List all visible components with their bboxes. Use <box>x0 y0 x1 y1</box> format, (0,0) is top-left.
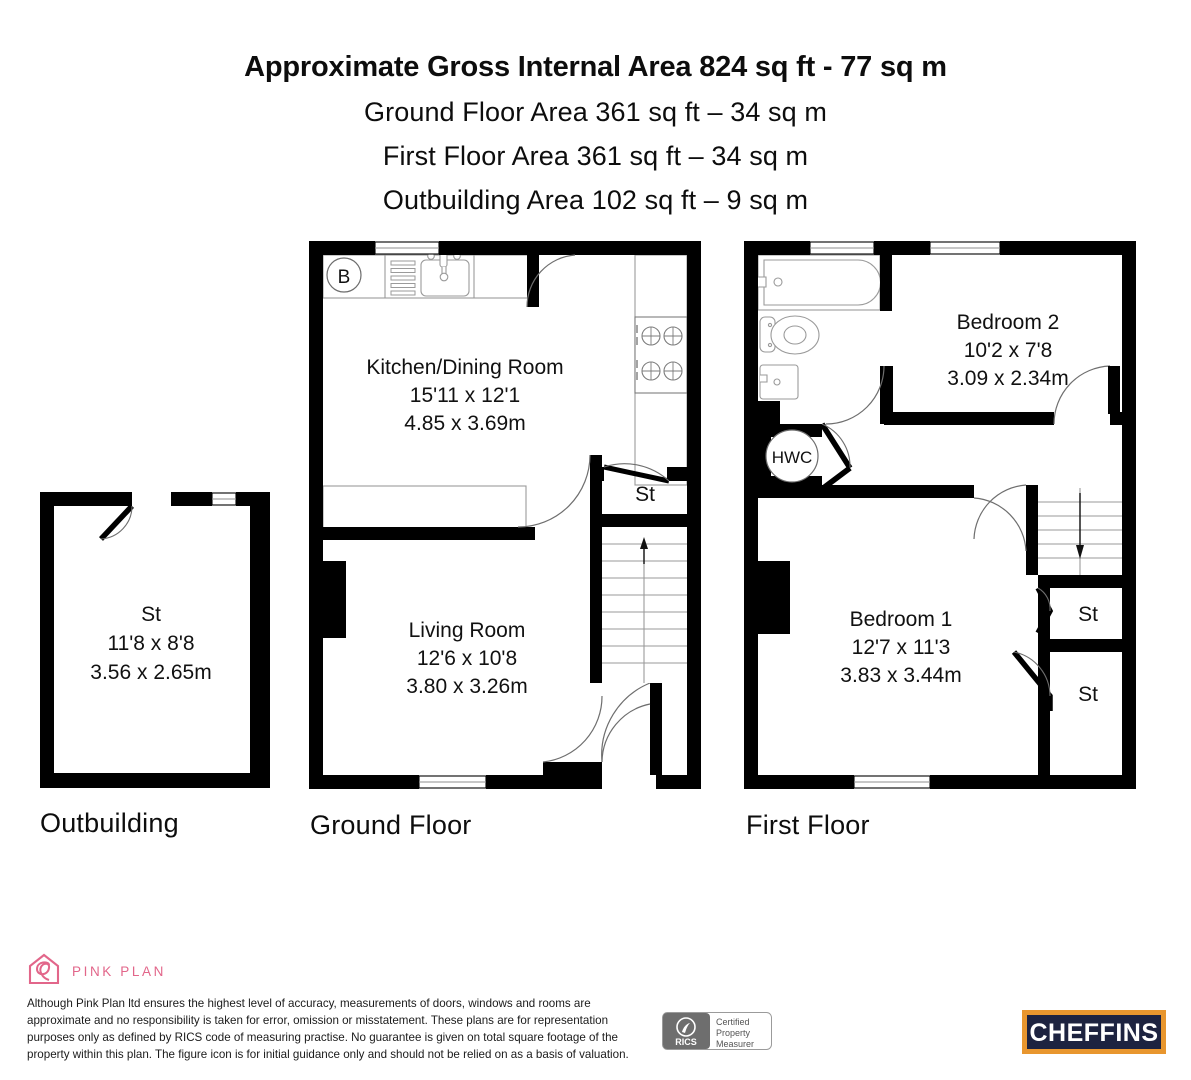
page-title: Approximate Gross Internal Area 824 sq f… <box>0 52 1191 82</box>
boiler-marker: B <box>327 258 361 292</box>
room-name-st: St <box>141 603 161 626</box>
room-name-kitchen: Kitchen/Dining Room <box>366 356 563 379</box>
outbuilding-room-label: St 11'8 x 8'8 3.56 x 2.65m <box>90 603 211 684</box>
hob-icon <box>635 317 687 393</box>
window-outbuilding-top <box>212 493 236 505</box>
room-imperial-living: 12'6 x 10'8 <box>417 647 517 670</box>
door-airing-cupboard <box>822 424 850 489</box>
rics-line2: Property <box>716 1028 751 1038</box>
hot-water-cylinder-marker: HWC <box>766 430 818 482</box>
room-metric-bedroom1: 3.83 x 3.44m <box>840 664 961 687</box>
door-outbuilding-entry <box>101 506 132 539</box>
rics-line1: Certified <box>716 1017 750 1027</box>
agent-logo: CHEFFINS <box>1022 1010 1166 1059</box>
agent-name: CHEFFINS <box>1030 1019 1159 1047</box>
staircase-first <box>1038 488 1122 575</box>
first-floor-label: First Floor <box>746 810 870 841</box>
room-imperial-bedroom2: 10'2 x 7'8 <box>964 339 1053 362</box>
base-units-lower <box>323 486 526 530</box>
outbuilding-area-line: Outbuilding Area 102 sq ft – 9 sq m <box>0 179 1191 223</box>
ground-floor-label: Ground Floor <box>310 810 471 841</box>
toilet-icon <box>760 316 819 354</box>
rics-mark: RICS <box>675 1037 697 1047</box>
staircase-ground <box>602 527 687 683</box>
store-label-ground: St <box>635 483 655 506</box>
ground-floor-area-line: Ground Floor Area 361 sq ft – 34 sq m <box>0 91 1191 135</box>
room-metric-living: 3.80 x 3.26m <box>406 675 527 698</box>
rics-badge: RICS Certified Property Measurer <box>662 1012 772 1055</box>
window-bedroom1-bottom <box>854 776 930 788</box>
room-imperial-st: 11'8 x 8'8 <box>107 632 194 655</box>
door-front-entry <box>602 683 650 762</box>
window-kitchen-top <box>375 242 439 254</box>
room-metric-st: 3.56 x 2.65m <box>90 661 211 684</box>
outbuilding-plan: St 11'8 x 8'8 3.56 x 2.65m <box>40 492 270 788</box>
bathtub-icon <box>758 255 881 310</box>
outbuilding-floor-label: Outbuilding <box>40 808 179 839</box>
room-metric-kitchen: 4.85 x 3.69m <box>404 412 525 435</box>
pink-plan-house-icon <box>27 952 61 991</box>
brand-name: PINK PLAN <box>72 964 166 979</box>
area-summary: Approximate Gross Internal Area 824 sq f… <box>0 0 1191 223</box>
door-living-hall <box>518 455 590 527</box>
door-bedroom1 <box>974 485 1026 551</box>
room-name-bedroom1: Bedroom 1 <box>850 608 953 631</box>
window-living-bottom <box>419 776 486 788</box>
hwc-label: HWC <box>772 448 813 467</box>
window-bathroom-top <box>810 242 874 254</box>
first-floor-area-line: First Floor Area 361 sq ft – 34 sq m <box>0 135 1191 179</box>
store-label-upper: St <box>1078 603 1098 626</box>
rics-line3: Measurer <box>716 1039 754 1049</box>
room-name-living: Living Room <box>409 619 526 642</box>
door-living-lower <box>543 696 602 762</box>
room-metric-bedroom2: 3.09 x 2.34m <box>947 367 1068 390</box>
room-imperial-bedroom1: 12'7 x 11'3 <box>852 636 951 659</box>
washbasin-icon <box>760 365 798 399</box>
disclaimer-text: Although Pink Plan ltd ensures the highe… <box>27 996 652 1064</box>
brand-logo: PINK PLAN <box>27 952 166 991</box>
first-floor-plan: HWC Bedroom 2 10'2 x 7'8 3.09 x 2.34m Be… <box>744 241 1136 789</box>
store-label-lower: St <box>1078 683 1098 706</box>
room-imperial-kitchen: 15'11 x 12'1 <box>410 384 520 407</box>
door-bathroom <box>826 366 884 424</box>
ground-floor-plan: B <box>309 241 701 789</box>
room-name-bedroom2: Bedroom 2 <box>957 311 1060 334</box>
window-bedroom2-top <box>930 242 1000 254</box>
boiler-label: B <box>338 267 351 288</box>
bathroom-fixtures <box>758 255 881 399</box>
